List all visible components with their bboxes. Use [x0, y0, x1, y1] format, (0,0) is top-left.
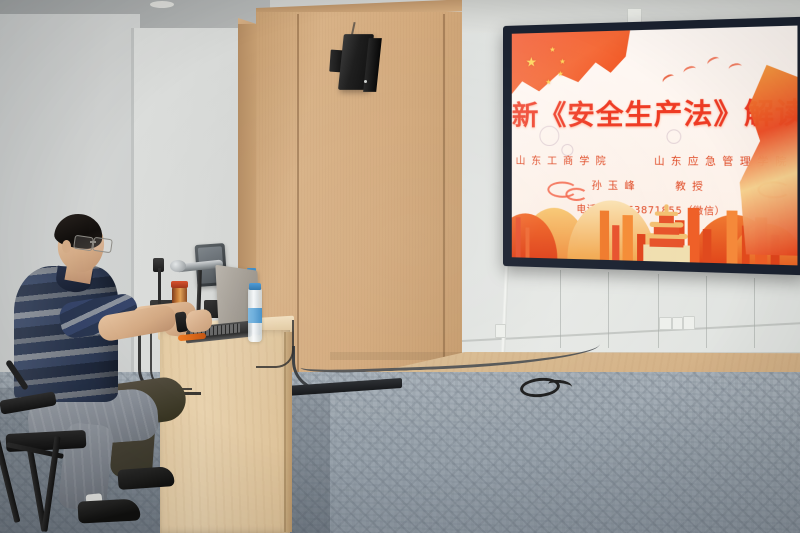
flag-star-icon: ★ — [526, 55, 538, 68]
building-silhouette — [703, 229, 712, 263]
flag-star-icon: ★ — [549, 47, 555, 54]
wall-panel-joint — [706, 276, 707, 348]
cloud-swirl-graphic — [565, 188, 587, 202]
near-shoe — [77, 498, 140, 523]
eyeglasses-lens-right — [92, 237, 113, 254]
ear — [62, 240, 71, 253]
eyeglasses-lens-left — [73, 235, 94, 252]
building-silhouette — [600, 211, 609, 260]
wood-panel-seam — [443, 14, 445, 386]
wall-panel-joint — [608, 272, 609, 348]
led-display-surface: ★ ★ ★ ★ ★ 新《安全生产法》解读 山东工商学院 山东应急管理学院 孙玉峰 — [512, 26, 798, 266]
building-silhouette — [516, 217, 521, 257]
wall-data-port[interactable] — [683, 316, 695, 330]
flag-star-icon: ★ — [559, 59, 565, 66]
photo-scene: ★ ★ ★ ★ ★ 新《安全生产法》解读 山东工商学院 山东应急管理学院 孙玉峰 — [0, 0, 800, 533]
wall-panel-joint — [658, 274, 659, 348]
led-display-panel[interactable]: ★ ★ ★ ★ ★ 新《安全生产法》解读 山东工商学院 山东应急管理学院 孙玉峰 — [503, 17, 800, 276]
flag-star-icon: ★ — [545, 79, 551, 86]
orange-stylus-pen[interactable] — [178, 333, 206, 341]
wall-power-outlet[interactable] — [672, 317, 683, 330]
building-silhouette — [526, 227, 530, 257]
temple-of-heaven-finial — [664, 204, 668, 212]
building-silhouette — [727, 210, 738, 263]
org-left-label: 山东工商学院 — [516, 156, 612, 168]
flag-star-icon: ★ — [557, 71, 563, 78]
near-hand — [185, 308, 214, 333]
far-shoe — [117, 466, 174, 490]
eyeglasses-bridge — [90, 241, 96, 243]
temple-of-heaven-tier — [659, 215, 674, 224]
wall-light-switch[interactable] — [659, 317, 672, 330]
wall-panel-joint — [754, 278, 755, 348]
building-silhouette — [612, 225, 619, 260]
building-silhouette — [623, 215, 633, 261]
speaker-indicator-led — [364, 80, 367, 83]
ceiling-smoke-detector — [627, 8, 642, 23]
